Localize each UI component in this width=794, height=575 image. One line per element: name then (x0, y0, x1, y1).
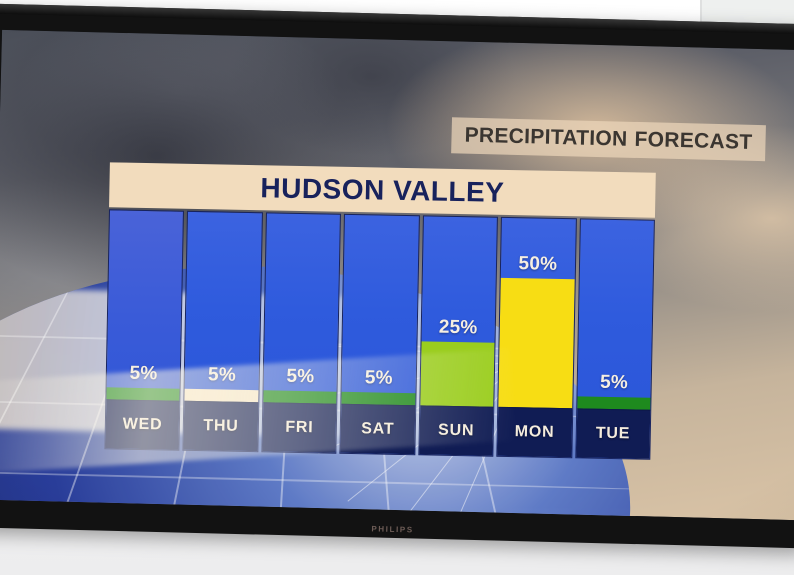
day-label-tue: TUE (596, 425, 631, 444)
precipitation-bar-chart: HUDSON VALLEY 5%WED5%THU5%FRI5%SAT25%SUN… (104, 162, 655, 462)
banner-word-precipitation: PRECIPITATION (464, 124, 628, 152)
chart-column-wed: 5%WED (104, 209, 184, 450)
chart-column-tue: 5%TUE (575, 218, 655, 459)
day-footer-fri: FRI (262, 402, 336, 452)
value-label-wed: 5% (107, 362, 181, 385)
chart-title-banner: HUDSON VALLEY (109, 162, 656, 217)
value-label-sat: 5% (342, 367, 416, 390)
chart-column-fri: 5%FRI (261, 212, 341, 453)
day-footer-wed: WED (105, 399, 179, 449)
bar-sun (420, 341, 495, 407)
day-footer-thu: THU (184, 401, 258, 451)
chart-column-mon: 50%MON (496, 217, 576, 458)
value-label-tue: 5% (577, 371, 651, 394)
day-label-sun: SUN (438, 422, 475, 441)
day-label-fri: FRI (285, 419, 314, 438)
day-label-wed: WED (123, 416, 163, 435)
banner-word-forecast: FORECAST (634, 128, 752, 155)
tv-screen: PRECIPITATION FORECAST HUDSON VALLEY 5%W… (0, 30, 794, 520)
day-footer-mon: MON (497, 407, 571, 457)
chart-column-sat: 5%SAT (340, 214, 420, 455)
chart-column-sun: 25%SUN (418, 215, 498, 456)
day-label-thu: THU (203, 417, 239, 436)
day-footer-sun: SUN (419, 405, 493, 455)
bar-mon (498, 278, 574, 409)
television: PHILIPS (0, 4, 794, 549)
tv-brand-logo: PHILIPS (371, 524, 414, 534)
day-label-mon: MON (515, 423, 555, 442)
chart-title-text: HUDSON VALLEY (260, 172, 505, 209)
value-label-thu: 5% (185, 364, 259, 387)
value-label-fri: 5% (263, 365, 337, 388)
day-footer-sat: SAT (341, 404, 415, 454)
photo-of-television: PHILIPS (0, 0, 794, 575)
value-label-mon: 50% (501, 253, 575, 276)
chart-column-thu: 5%THU (183, 211, 263, 452)
day-label-sat: SAT (361, 420, 395, 439)
day-footer-tue: TUE (576, 408, 650, 458)
chart-columns: 5%WED5%THU5%FRI5%SAT25%SUN50%MON5%TUE (104, 209, 655, 459)
value-label-sun: 25% (421, 316, 495, 339)
